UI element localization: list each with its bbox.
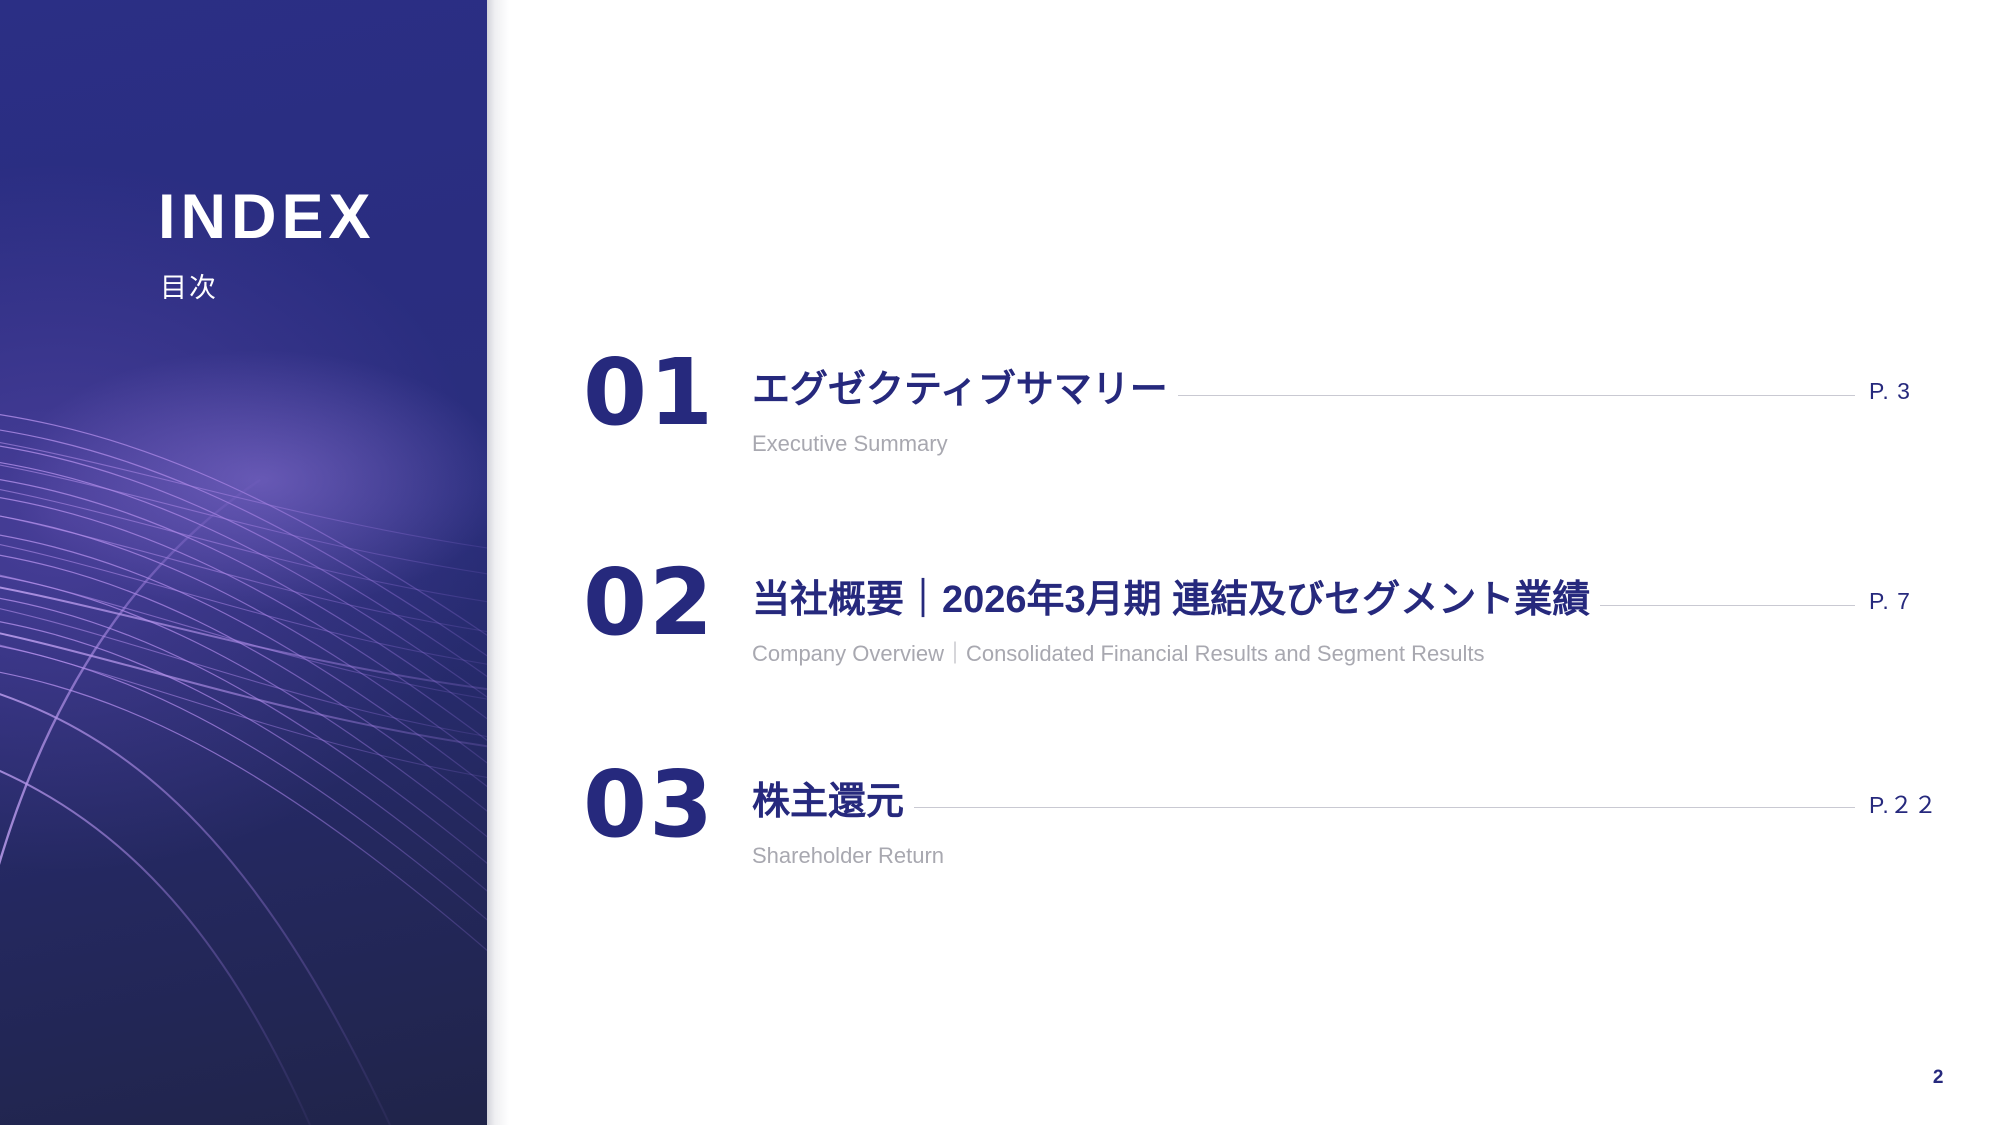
- toc-title-english: Executive Summary: [752, 431, 2001, 457]
- toc-page-label: P. 7: [1865, 588, 2001, 615]
- toc-leader-line: [1600, 605, 1855, 606]
- slide-page-number: 2: [1933, 1067, 1944, 1089]
- page-title-japanese: 目次: [160, 275, 458, 302]
- toc-content: 01 エグゼクティブサマリー P. 3 Executive Summary 02…: [487, 0, 2001, 1125]
- toc-title-row: 当社概要｜2026年3月期 連結及びセグメント業績 P. 7: [752, 573, 2001, 629]
- toc-title-english: Shareholder Return: [752, 843, 2001, 869]
- toc-leader-line: [914, 807, 1855, 808]
- toc-leader-line: [1178, 395, 1855, 396]
- toc-title-japanese: 株主還元: [752, 783, 904, 823]
- slide-index: INDEX 目次 01 エグゼクティブサマリー P. 3 Executive S…: [0, 0, 2001, 1125]
- toc-entry-03[interactable]: 03 株主還元 P.２２ Shareholder Return: [487, 775, 2001, 905]
- toc-number: 01: [583, 347, 715, 439]
- toc-number: 03: [583, 759, 715, 851]
- toc-entry-02[interactable]: 02 当社概要｜2026年3月期 連結及びセグメント業績 P. 7 Compan…: [487, 573, 2001, 703]
- toc-title-row: エグゼクティブサマリー P. 3: [752, 363, 2001, 419]
- toc-title-english: Company Overview｜Consolidated Financial …: [752, 641, 2001, 667]
- sidebar-panel: INDEX 目次: [0, 0, 487, 1125]
- toc-entry-body: 当社概要｜2026年3月期 連結及びセグメント業績 P. 7 Company O…: [752, 573, 2001, 667]
- page-title: INDEX: [158, 186, 458, 249]
- brand-block: INDEX 目次: [158, 186, 458, 302]
- toc-entry-body: 株主還元 P.２２ Shareholder Return: [752, 775, 2001, 869]
- toc-entry-01[interactable]: 01 エグゼクティブサマリー P. 3 Executive Summary: [487, 363, 2001, 493]
- toc-page-label: P.２２: [1865, 786, 2001, 820]
- toc-title-japanese: エグゼクティブサマリー: [752, 371, 1168, 411]
- decorative-wave-pattern: [0, 0, 487, 1125]
- toc-title-row: 株主還元 P.２２: [752, 775, 2001, 831]
- toc-entry-body: エグゼクティブサマリー P. 3 Executive Summary: [752, 363, 2001, 457]
- toc-number: 02: [583, 557, 715, 649]
- toc-page-label: P. 3: [1865, 378, 2001, 405]
- toc-title-japanese: 当社概要｜2026年3月期 連結及びセグメント業績: [752, 581, 1590, 621]
